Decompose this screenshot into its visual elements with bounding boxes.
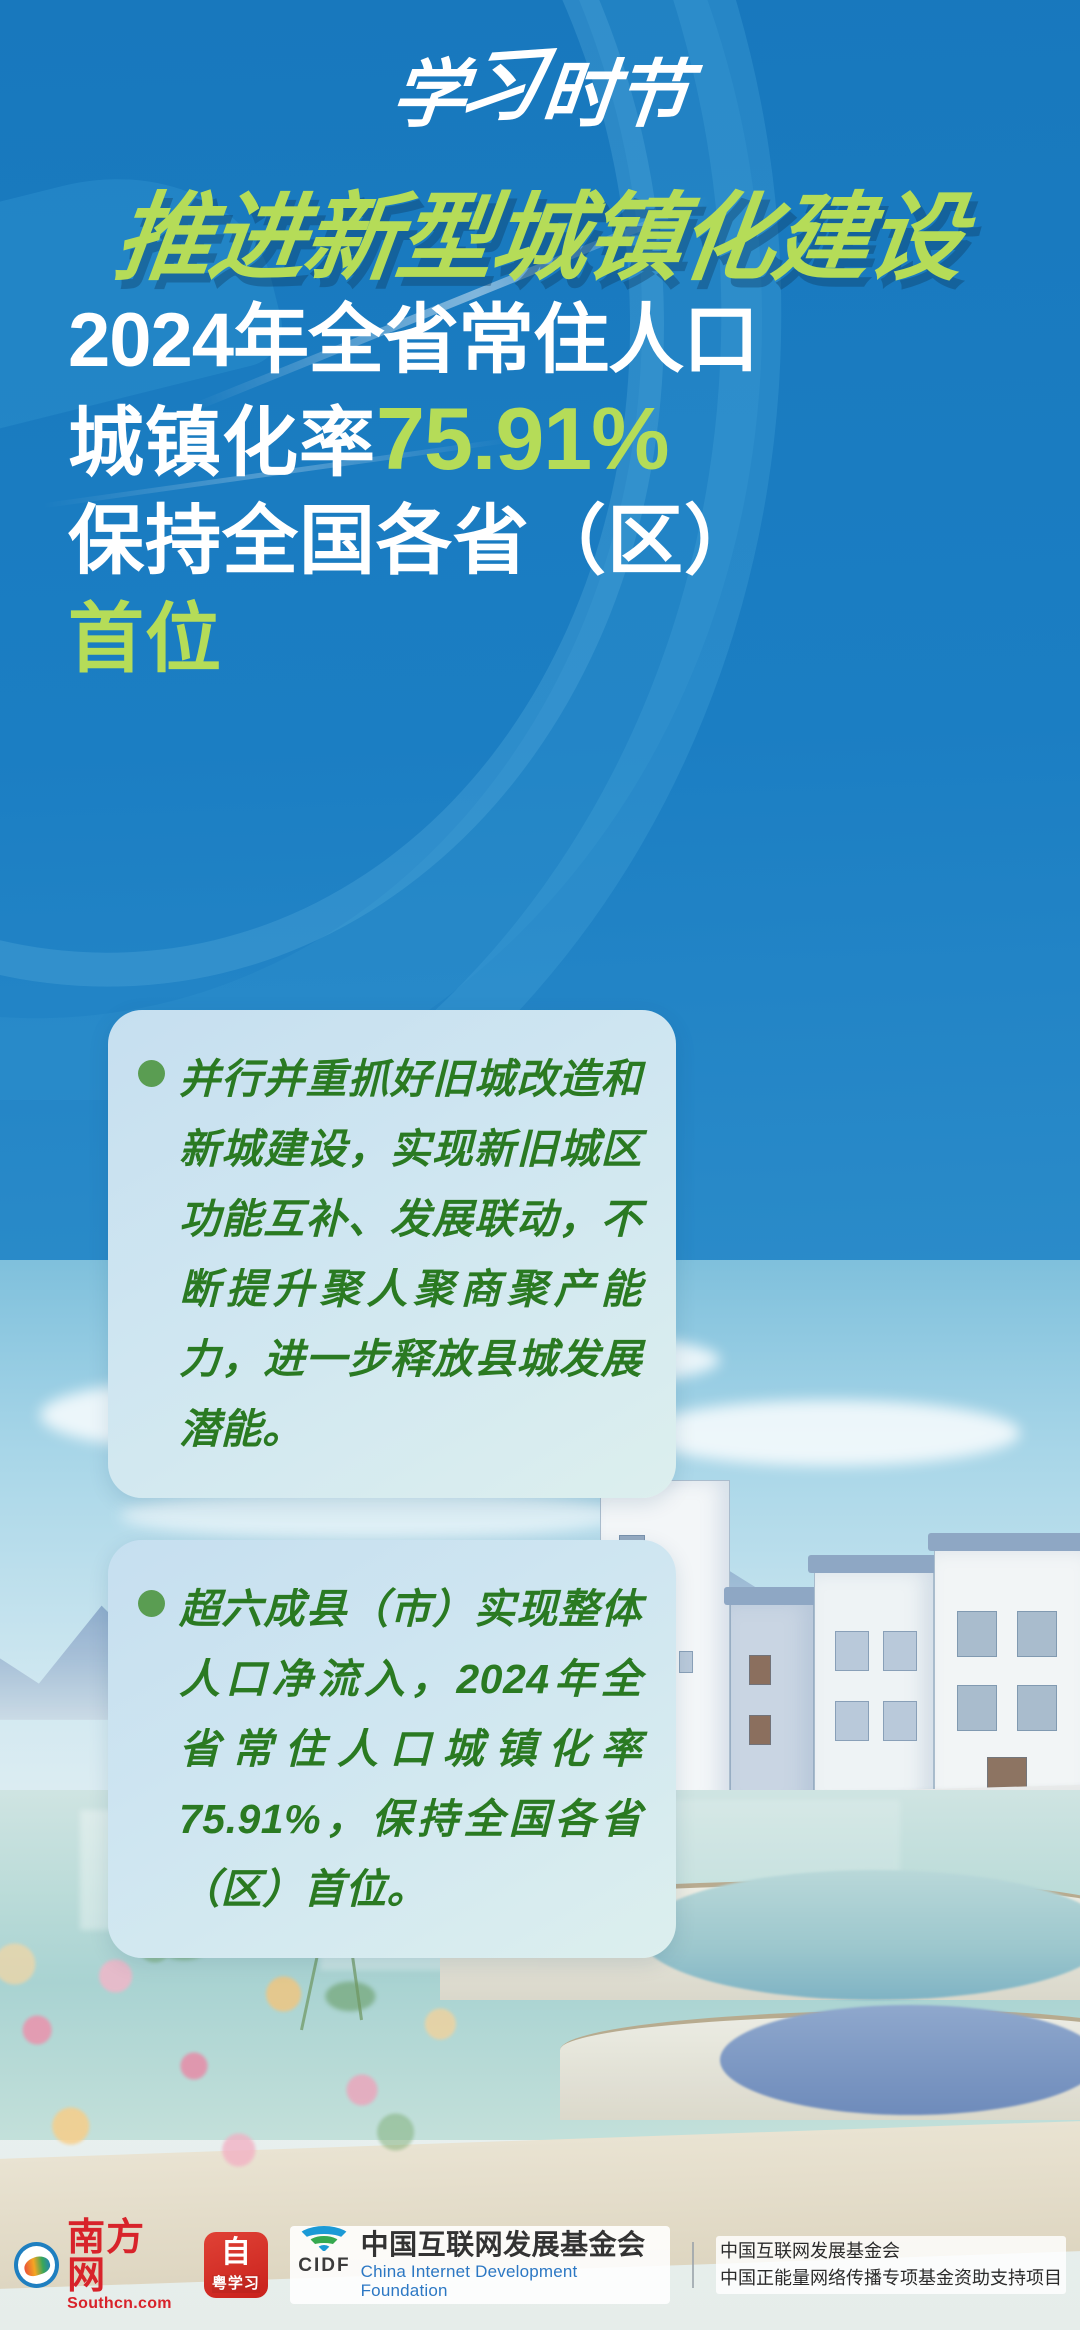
window <box>749 1655 771 1685</box>
footer-sponsor-notes: 中国互联网发展基金会 中国正能量网络传播专项基金资助支持项目 <box>716 2236 1066 2294</box>
urbanization-rate-value: 75.91% <box>376 389 668 488</box>
brand-char-xi-script: 习 <box>452 45 549 126</box>
bullet-card-text: 并行并重抓好旧城改造和新城建设，实现新旧城区功能互补、发展联动，不断提升聚人聚商… <box>179 1044 642 1464</box>
townhouse <box>934 1548 1080 1810</box>
green-dot-icon <box>138 1590 165 1617</box>
cidf-abbreviation: CIDF <box>298 2255 350 2277</box>
yuexuexi-app-icon[interactable]: 自 粤学习 <box>204 2232 269 2298</box>
subtitle-block: 2024年全省常住人口 城镇化率75.91% 保持全国各省（区） 首位 <box>68 292 1028 689</box>
brand-chars-shijie: 时节 <box>538 60 691 130</box>
bullet-card-row: 并行并重抓好旧城改造和新城建设，实现新旧城区功能互补、发展联动，不断提升聚人聚商… <box>138 1044 642 1464</box>
window <box>679 1651 693 1673</box>
brand-logo: 学 习 时节 <box>0 48 1080 130</box>
terrace-pond <box>720 2005 1080 2115</box>
bullet-card-list: 并行并重抓好旧城改造和新城建设，实现新旧城区功能互补、发展联动，不断提升聚人聚商… <box>108 1010 676 1958</box>
page-title: 推进新型城镇化建设 <box>0 160 1080 299</box>
window <box>883 1701 917 1741</box>
cidf-name-en: China Internet Development Foundation <box>361 2262 662 2301</box>
window <box>957 1685 997 1731</box>
brand-logo-lockup: 学 习 时节 <box>392 48 688 130</box>
southcn-name-en: Southcn.com <box>67 2296 181 2312</box>
footer-note-line-2: 中国正能量网络传播专项基金资助支持项目 <box>720 2265 1062 2292</box>
window <box>1017 1611 1057 1657</box>
window <box>957 1611 997 1657</box>
cidf-logo[interactable]: CIDF 中国互联网发展基金会 China Internet Developme… <box>290 2226 670 2303</box>
window <box>749 1715 771 1745</box>
yuexuexi-label: 粤学习 <box>212 2275 260 2293</box>
southcn-name-cn: 南方网 <box>67 2218 181 2294</box>
townhouse <box>814 1570 934 1810</box>
infographic-poster: 学 习 时节 推进新型城镇化建设 2024年全省常住人口 城镇化率75.91% … <box>0 0 1080 2330</box>
subtitle-line-2-prefix: 城镇化率 <box>68 401 376 486</box>
subtitle-line-3: 保持全国各省（区） <box>68 493 1028 591</box>
bullet-card-row: 超六成县（市）实现整体人口净流入，2024年全省常住人口城镇化率75.91%，保… <box>138 1574 642 1924</box>
footer-logo-strip: 南方网 Southcn.com 自 粤学习 CIDF 中国互联网发展基金会 Ch… <box>0 2218 1080 2312</box>
southcn-logo-icon <box>14 2242 59 2288</box>
green-dot-icon <box>138 1060 165 1087</box>
yuexuexi-glyph: 自 <box>204 2238 269 2268</box>
window <box>883 1631 917 1671</box>
footer-note-line-1: 中国互联网发展基金会 <box>720 2238 1062 2265</box>
window <box>835 1631 869 1671</box>
footer-divider <box>692 2242 694 2288</box>
cloud <box>640 1400 1020 1466</box>
townhouse <box>730 1602 814 1810</box>
subtitle-line-1: 2024年全省常住人口 <box>68 292 1028 390</box>
cidf-mark: CIDF <box>298 2254 350 2277</box>
southcn-logo[interactable]: 南方网 Southcn.com <box>14 2218 182 2312</box>
cidf-wordmark: 中国互联网发展基金会 China Internet Development Fo… <box>361 2229 662 2300</box>
subtitle-line-4-highlight: 首位 <box>68 591 1028 689</box>
bullet-card: 并行并重抓好旧城改造和新城建设，实现新旧城区功能互补、发展联动，不断提升聚人聚商… <box>108 1010 676 1498</box>
bullet-card: 超六成县（市）实现整体人口净流入，2024年全省常住人口城镇化率75.91%，保… <box>108 1540 676 1958</box>
subtitle-line-2: 城镇化率75.91% <box>68 390 1028 493</box>
window <box>835 1701 869 1741</box>
window <box>1017 1685 1057 1731</box>
southcn-wordmark: 南方网 Southcn.com <box>67 2218 181 2312</box>
bullet-card-text: 超六成县（市）实现整体人口净流入，2024年全省常住人口城镇化率75.91%，保… <box>179 1574 642 1924</box>
cidf-name-cn: 中国互联网发展基金会 <box>361 2229 662 2261</box>
